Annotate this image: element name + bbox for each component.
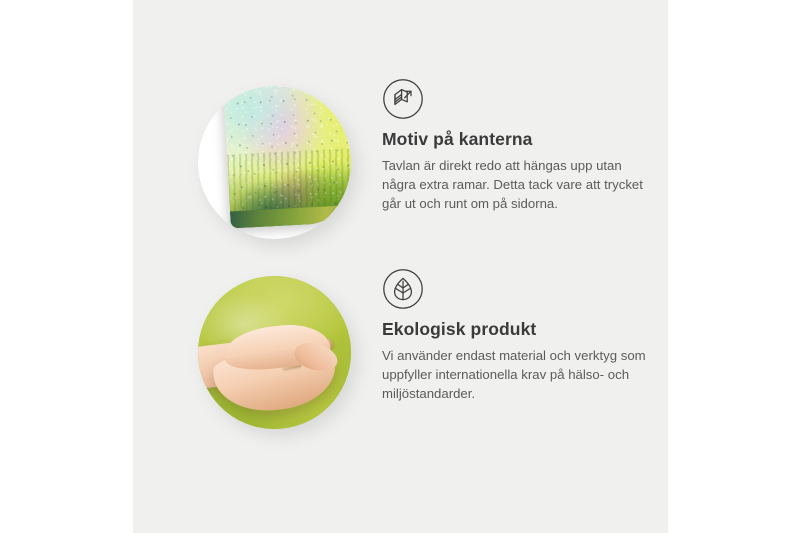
leaf-icon <box>382 268 424 310</box>
feature-description: Tavlan är direkt redo att hängas upp uta… <box>382 156 650 213</box>
content-panel: Motiv på kanterna Tavlan är direkt redo … <box>133 0 668 533</box>
product-feature-banner: Motiv på kanterna Tavlan är direkt redo … <box>0 0 800 533</box>
wood-chips-in-hands-photo <box>198 276 351 429</box>
feature-text-column: Motiv på kanterna Tavlan är direkt redo … <box>382 78 662 213</box>
feature-title: Ekologisk produkt <box>382 319 662 340</box>
feature-block-motiv-pa-kanterna: Motiv på kanterna Tavlan är direkt redo … <box>133 78 668 258</box>
canvas-print-photo <box>198 86 351 239</box>
feature-description: Vi använder endast material och verktyg … <box>382 346 650 403</box>
feature-title: Motiv på kanterna <box>382 129 662 150</box>
canvas-wrapped-edge-icon <box>382 78 424 120</box>
canvas-print-block <box>223 86 351 228</box>
feature-text-column: Ekologisk produkt Vi använder endast mat… <box>382 268 662 403</box>
feature-block-ekologisk-produkt: Ekologisk produkt Vi använder endast mat… <box>133 268 668 448</box>
